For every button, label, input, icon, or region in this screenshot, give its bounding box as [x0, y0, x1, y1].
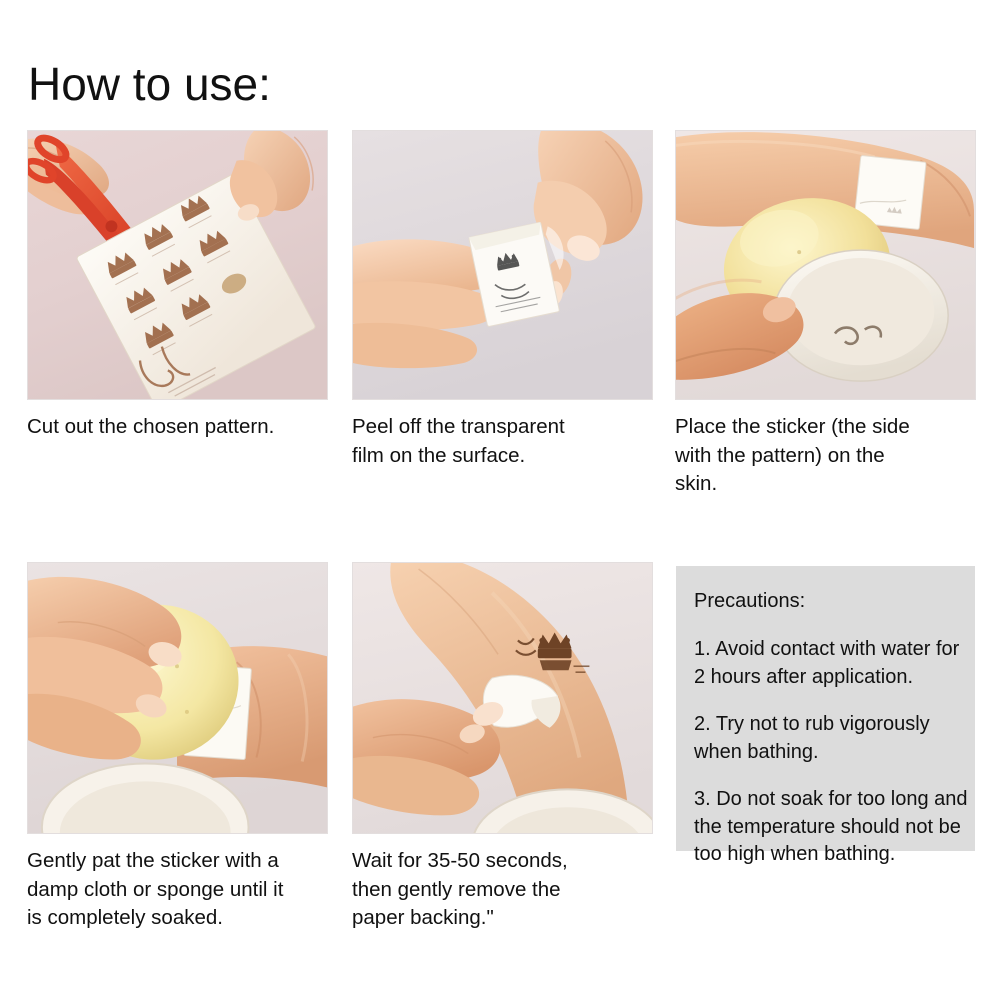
step-5: Wait for 35-50 seconds, then gently remo…: [352, 562, 655, 933]
photo-pat-sponge: [27, 562, 328, 834]
caption-line: is completely soaked.: [27, 904, 330, 933]
precaution-line: the temperature should not be: [694, 814, 959, 842]
caption-line: Wait for 35-50 seconds,: [352, 847, 655, 876]
caption-line: skin.: [675, 470, 978, 499]
precaution-line: 3. Do not soak for too long and: [694, 786, 959, 814]
photo-remove-backing: [352, 562, 653, 834]
step-1-caption: Cut out the chosen pattern.: [27, 413, 330, 442]
step-3-caption: Place the sticker (the side with the pat…: [675, 413, 978, 499]
precautions-panel: Precautions: 1. Avoid contact with water…: [676, 566, 975, 851]
caption-line: Gently pat the sticker with a: [27, 847, 330, 876]
precaution-line: too high when bathing.: [694, 841, 959, 869]
step-3: Place the sticker (the side with the pat…: [675, 130, 978, 499]
photo-place-sticker: [675, 130, 976, 400]
precaution-line: 2. Try not to rub vigorously: [694, 711, 959, 739]
caption-line: paper backing.": [352, 904, 655, 933]
precaution-line: 1. Avoid contact with water for: [694, 636, 959, 664]
step-4: Gently pat the sticker with a damp cloth…: [27, 562, 330, 933]
step-4-caption: Gently pat the sticker with a damp cloth…: [27, 847, 330, 933]
precaution-line: when bathing.: [694, 739, 959, 767]
precautions-title: Precautions:: [694, 588, 959, 614]
caption-line: Place the sticker (the side: [675, 413, 978, 442]
caption-line: with the pattern) on the: [675, 442, 978, 471]
caption-line: then gently remove the: [352, 876, 655, 905]
caption-line: damp cloth or sponge until it: [27, 876, 330, 905]
precaution-line: 2 hours after application.: [694, 664, 959, 692]
caption-line: film on the surface.: [352, 442, 655, 471]
caption-line: Cut out the chosen pattern.: [27, 413, 330, 442]
precaution-item-2: 2. Try not to rub vigorously when bathin…: [694, 711, 959, 766]
step-2-caption: Peel off the transparent film on the sur…: [352, 413, 655, 470]
step-5-caption: Wait for 35-50 seconds, then gently remo…: [352, 847, 655, 933]
photo-cut-pattern: [27, 130, 328, 400]
precaution-item-3: 3. Do not soak for too long and the temp…: [694, 786, 959, 869]
caption-line: Peel off the transparent: [352, 413, 655, 442]
photo-peel-film: [352, 130, 653, 400]
step-1: Cut out the chosen pattern.: [27, 130, 330, 442]
precaution-item-1: 1. Avoid contact with water for 2 hours …: [694, 636, 959, 691]
step-2: Peel off the transparent film on the sur…: [352, 130, 655, 470]
page-title: How to use:: [28, 58, 271, 110]
